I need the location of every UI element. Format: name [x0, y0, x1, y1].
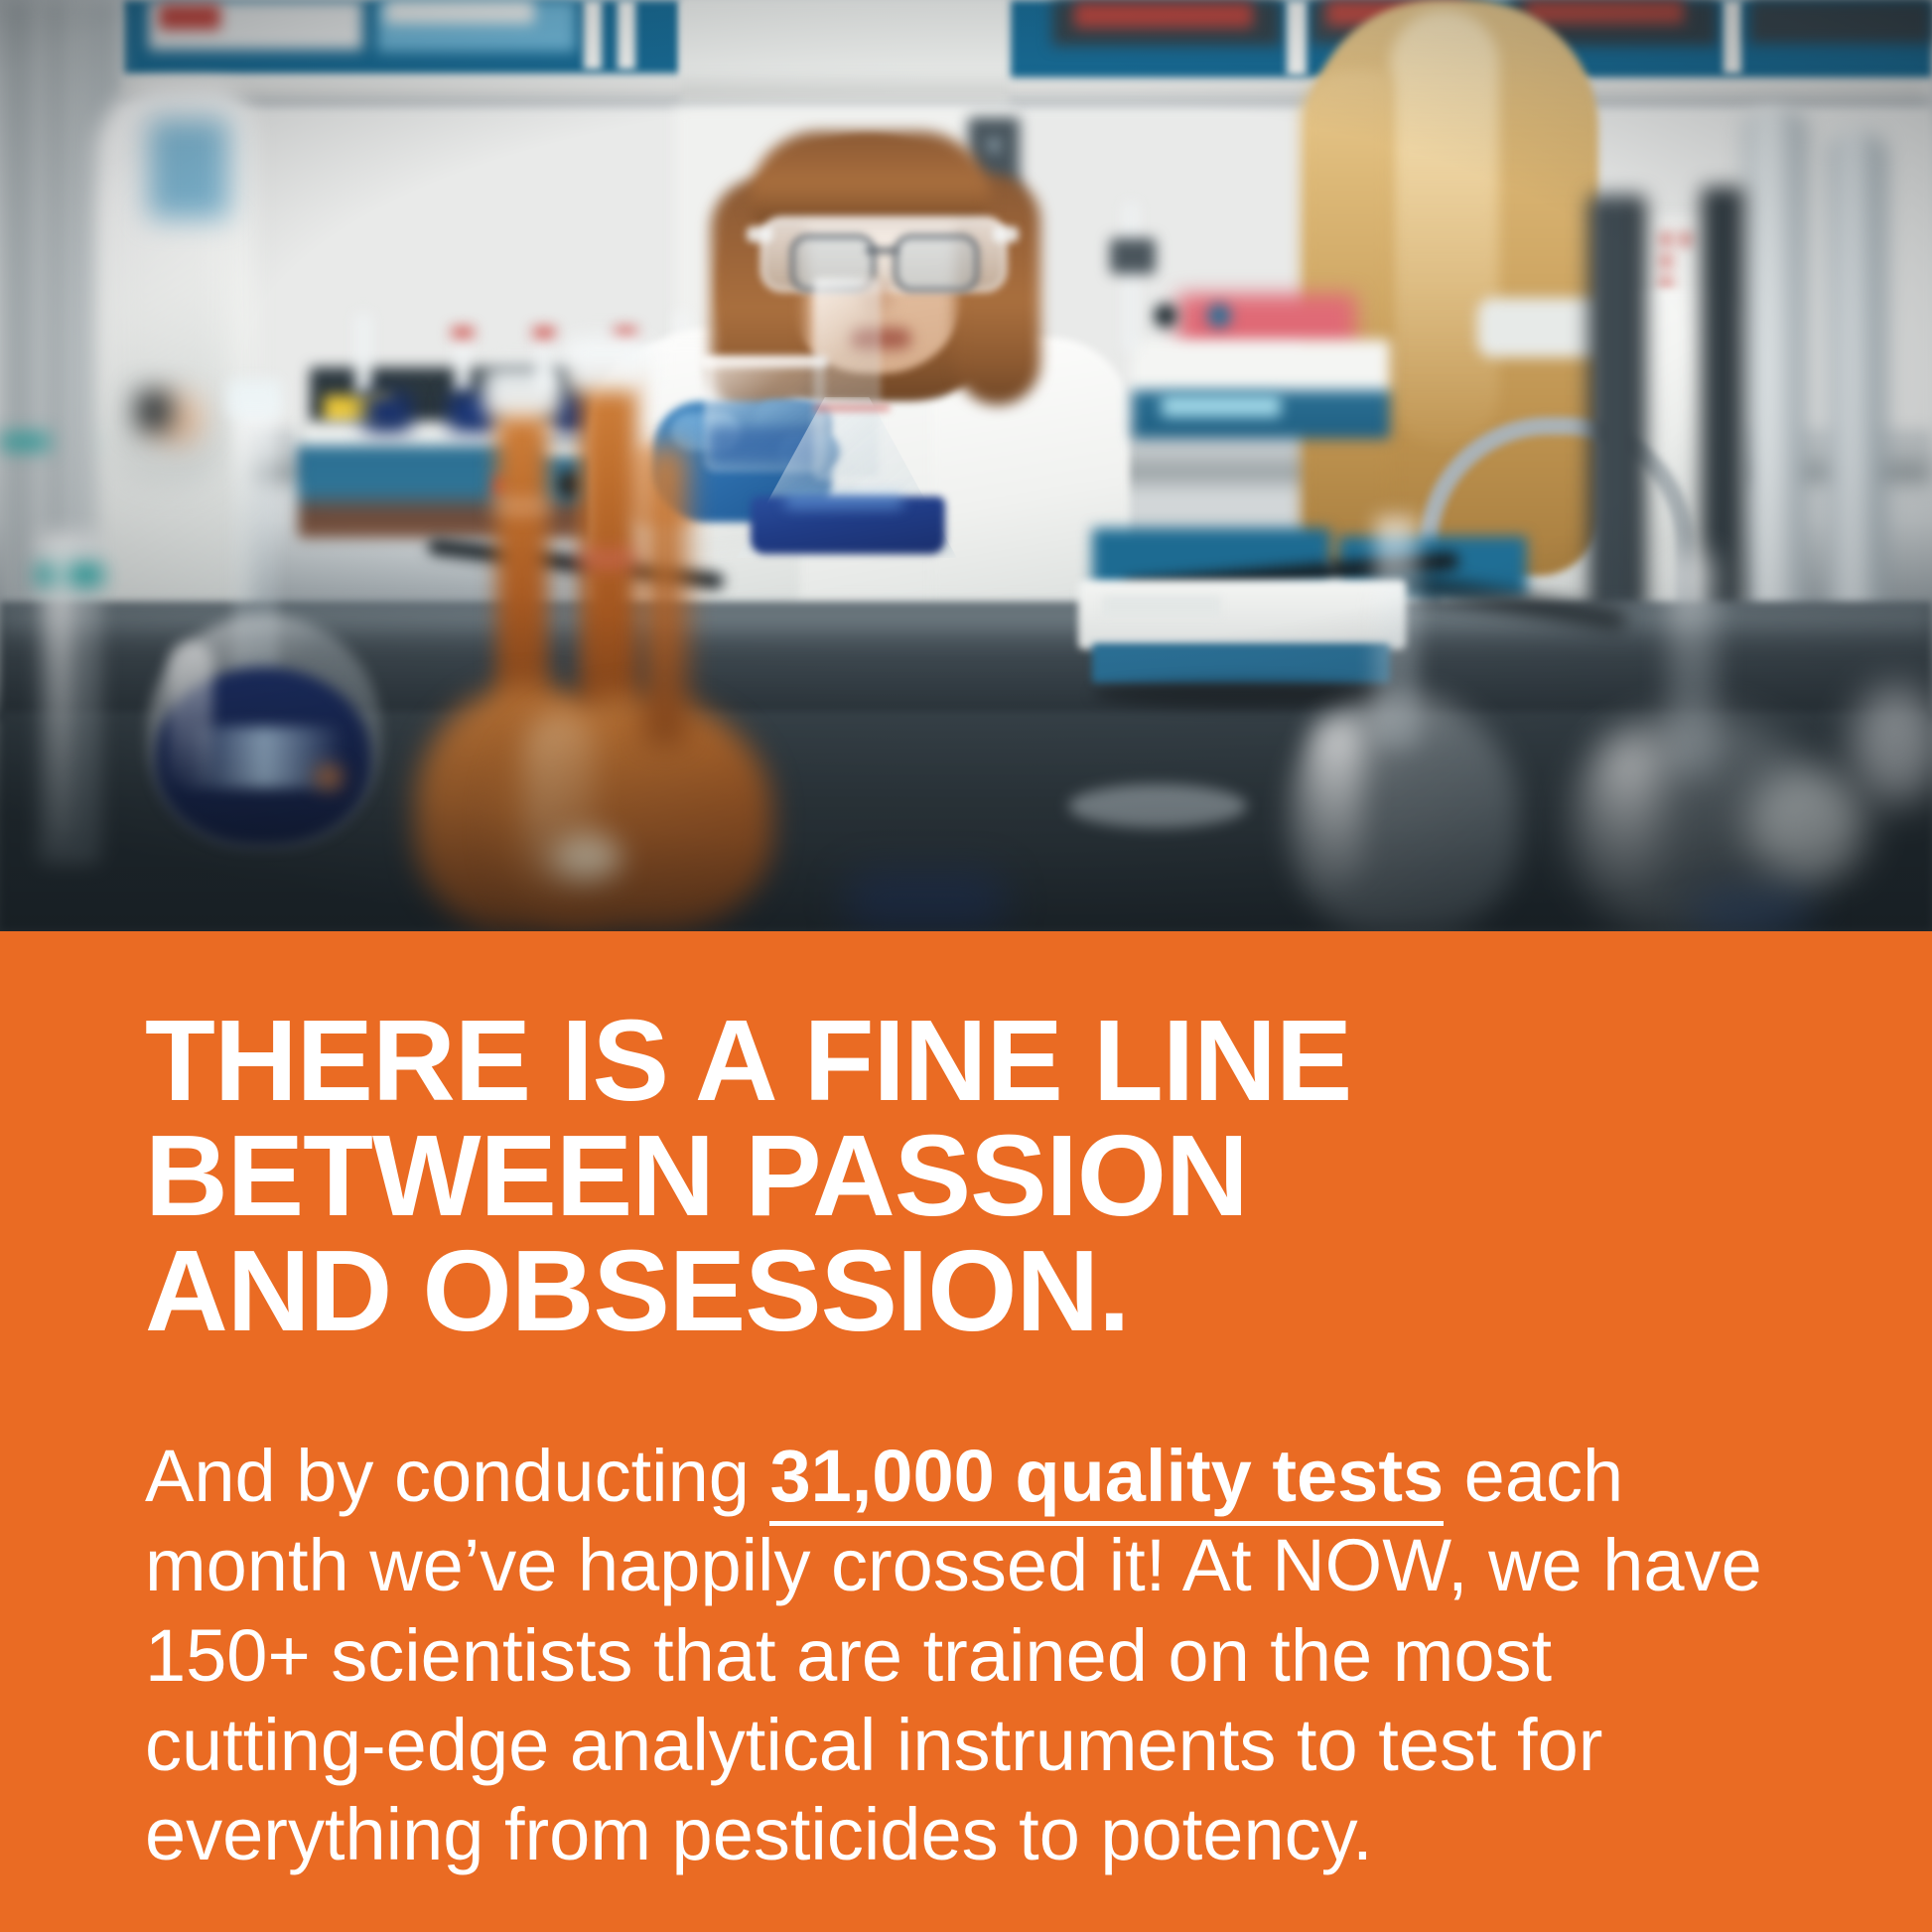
- photo-vignette: [0, 0, 1932, 931]
- page-title: THERE IS A FINE LINE BETWEEN PASSION AND…: [145, 1003, 1833, 1348]
- headline-line-1: THERE IS A FINE LINE: [145, 1003, 1833, 1118]
- body-paragraph: And by conducting 31,000 quality tests e…: [145, 1432, 1813, 1879]
- headline-line-2: BETWEEN PASSION: [145, 1118, 1833, 1233]
- laboratory-photo: [0, 0, 1932, 931]
- body-text-before: And by conducting: [145, 1435, 769, 1517]
- headline-line-3: AND OBSESSION.: [145, 1233, 1833, 1348]
- orange-message-panel: THERE IS A FINE LINE BETWEEN PASSION AND…: [0, 931, 1932, 1932]
- marketing-poster: THERE IS A FINE LINE BETWEEN PASSION AND…: [0, 0, 1932, 1932]
- quality-tests-highlight: 31,000 quality tests: [769, 1435, 1444, 1526]
